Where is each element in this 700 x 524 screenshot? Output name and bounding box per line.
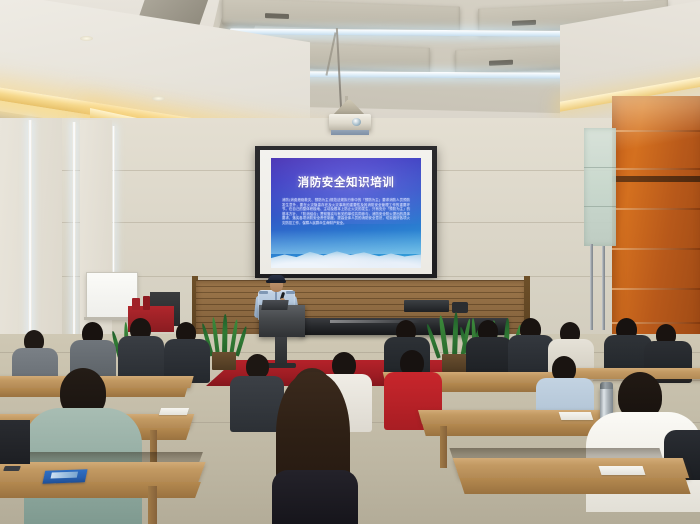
attendee-body: [118, 336, 164, 380]
attendee-body: [272, 470, 358, 524]
chair-back: [0, 420, 30, 464]
thermos-cap: [600, 382, 613, 389]
presenter-laptop: [261, 300, 288, 310]
podium-stem: [275, 337, 287, 365]
wall-light-slit-1: [28, 120, 32, 346]
planter-center: [442, 354, 468, 372]
support-pole-1: [590, 244, 593, 330]
desk-row-front-right: [453, 458, 689, 478]
support-pole-2: [602, 246, 605, 330]
planter-left: [212, 352, 236, 370]
desk-leg: [440, 426, 447, 468]
desk-front-panel: [459, 478, 690, 494]
speaker-epaulette-left: [259, 291, 268, 294]
desk-leg: [148, 486, 157, 524]
snake-plant-left: [206, 316, 246, 356]
frosted-glass-panel: [584, 128, 616, 246]
pen: [3, 466, 21, 471]
presentation-slide: 消防安全知识培训 消防(消费燃烧救灾、预防为主)规范法规执行条中的「预防为主」要…: [271, 158, 421, 268]
wall-light-slit-2: [72, 122, 76, 342]
speaker-epaulette-right: [286, 291, 295, 294]
projector-lens-icon: [352, 118, 361, 126]
projector-base-plate: [331, 130, 369, 135]
slide-horizon-light: [271, 230, 421, 254]
orange-wall-dark-band: [612, 176, 700, 182]
booklet-cover-image: [51, 472, 78, 479]
speaker-cap-brim: [266, 280, 286, 283]
training-room-photo: 消防安全知识培训 消防(消费燃烧救灾、预防为主)规范法规执行条中的「预防为主」要…: [0, 0, 700, 524]
desk-front-panel: [422, 424, 605, 436]
paper-sheet: [159, 408, 189, 415]
ac-vent-slot: [512, 19, 536, 25]
orange-wall-gloss-reflection: [612, 96, 700, 156]
podium-base: [266, 363, 296, 368]
desk-front-panel: [0, 482, 201, 498]
desk-row-front-left: [0, 462, 206, 482]
ceiling-downlight-2: [152, 96, 165, 101]
counter-monitor: [404, 300, 449, 312]
paper-sheet: [559, 412, 594, 420]
blue-training-booklet: [42, 469, 87, 483]
paper-sheet: [599, 466, 646, 475]
ceiling-downlight-1: [80, 36, 93, 41]
ac-vent-slot: [489, 60, 513, 66]
red-equipment-item-2: [143, 296, 150, 310]
slide-body-text: 消防(消费燃烧救灾、预防为主)规范法规执行条中的「预防为主」要求消防人员预防发生…: [282, 198, 410, 226]
ac-vent-slot: [265, 13, 289, 19]
red-equipment-item-1: [132, 298, 140, 310]
projector-body: [329, 114, 371, 131]
wall-light-slit-3: [112, 126, 115, 276]
slide-title: 消防安全知识培训: [271, 174, 421, 190]
